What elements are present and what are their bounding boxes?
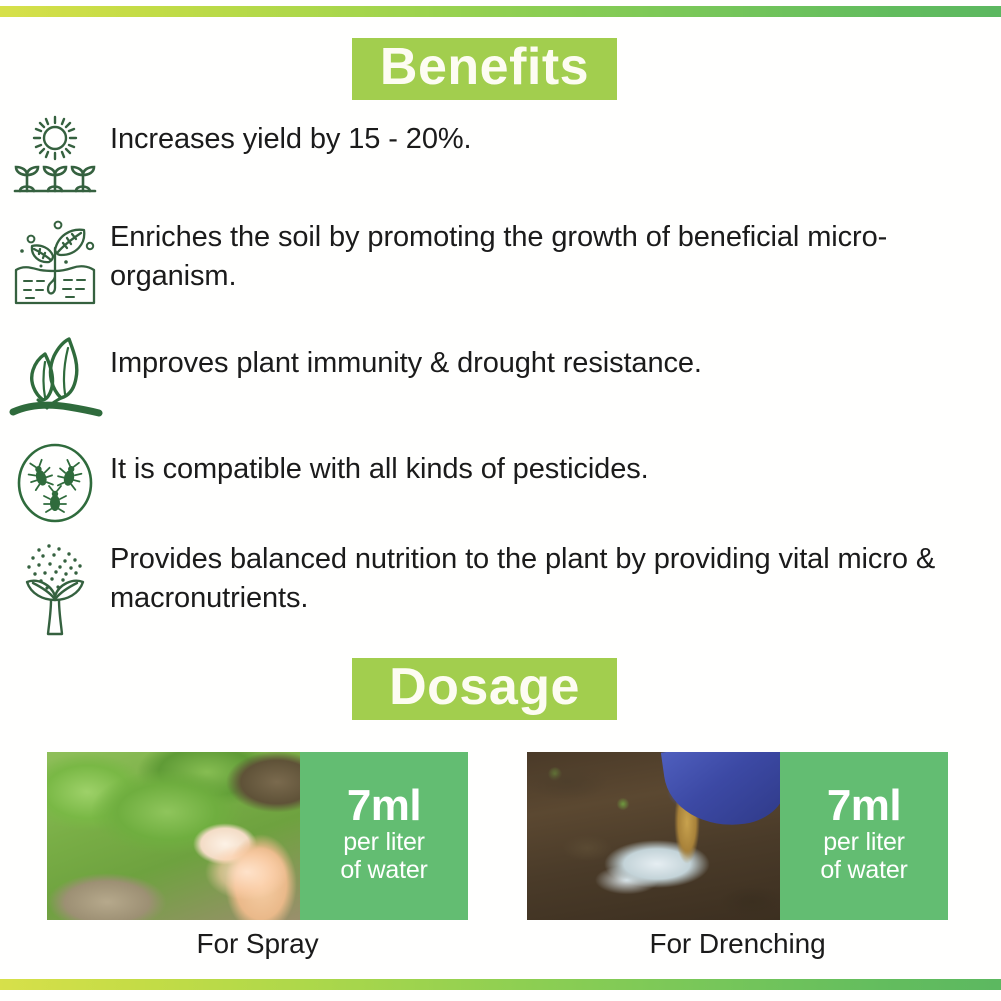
dosage-sub-line-1: per liter [343,828,425,856]
benefit-item: Increases yield by 15 - 20%. [0,108,1001,200]
dosage-panel-spray: 7ml per liter of water [300,752,468,920]
sun-sprouts-icon [0,108,110,196]
dosage-amount: 7ml [347,784,421,829]
hand-spraying-plants-photo [47,752,300,920]
benefits-heading-chip: Benefits [352,38,617,100]
dosage-heading-text: Dosage [389,661,580,717]
benefit-item: Provides balanced nutrition to the plant… [0,536,1001,640]
top-gradient-bar [0,6,1001,17]
benefit-text: Improves plant immunity & drought resist… [110,332,1001,383]
plant-in-soil-icon [0,214,110,308]
bottom-gradient-bar [0,979,1001,990]
two-leaves-icon [0,332,110,418]
dosage-amount: 7ml [827,784,901,829]
benefit-item: It is compatible with all kinds of pesti… [0,438,1001,524]
dosage-sub-line-2: of water [340,856,427,884]
blue-watering-can [661,752,780,834]
dosage-caption-spray: For Spray [47,928,468,960]
benefit-text: Increases yield by 15 - 20%. [110,108,1001,159]
dosage-card-spray: 7ml per liter of water [47,752,468,920]
product-infographic: Benefits [0,0,1001,1001]
benefits-heading-text: Benefits [380,41,589,97]
watering-can-soil-photo [527,752,780,920]
dosage-card-drenching: 7ml per liter of water [527,752,948,920]
benefit-text: Enriches the soil by promoting the growt… [110,214,1001,296]
benefit-item: Enriches the soil by promoting the growt… [0,214,1001,314]
sprout-nutrients-icon [0,536,110,640]
benefits-list: Increases yield by 15 - 20%. [0,108,1001,654]
insects-circle-icon [0,438,110,524]
dosage-sub-line-2: of water [820,856,907,884]
dosage-cards: 7ml per liter of water 7ml per liter of … [0,752,1001,920]
benefit-text: It is compatible with all kinds of pesti… [110,438,1001,489]
dosage-caption-drenching: For Drenching [527,928,948,960]
benefit-item: Improves plant immunity & drought resist… [0,332,1001,424]
dosage-panel-drenching: 7ml per liter of water [780,752,948,920]
dosage-heading-chip: Dosage [352,658,617,720]
benefit-text: Provides balanced nutrition to the plant… [110,536,1001,618]
dosage-sub-line-1: per liter [823,828,905,856]
